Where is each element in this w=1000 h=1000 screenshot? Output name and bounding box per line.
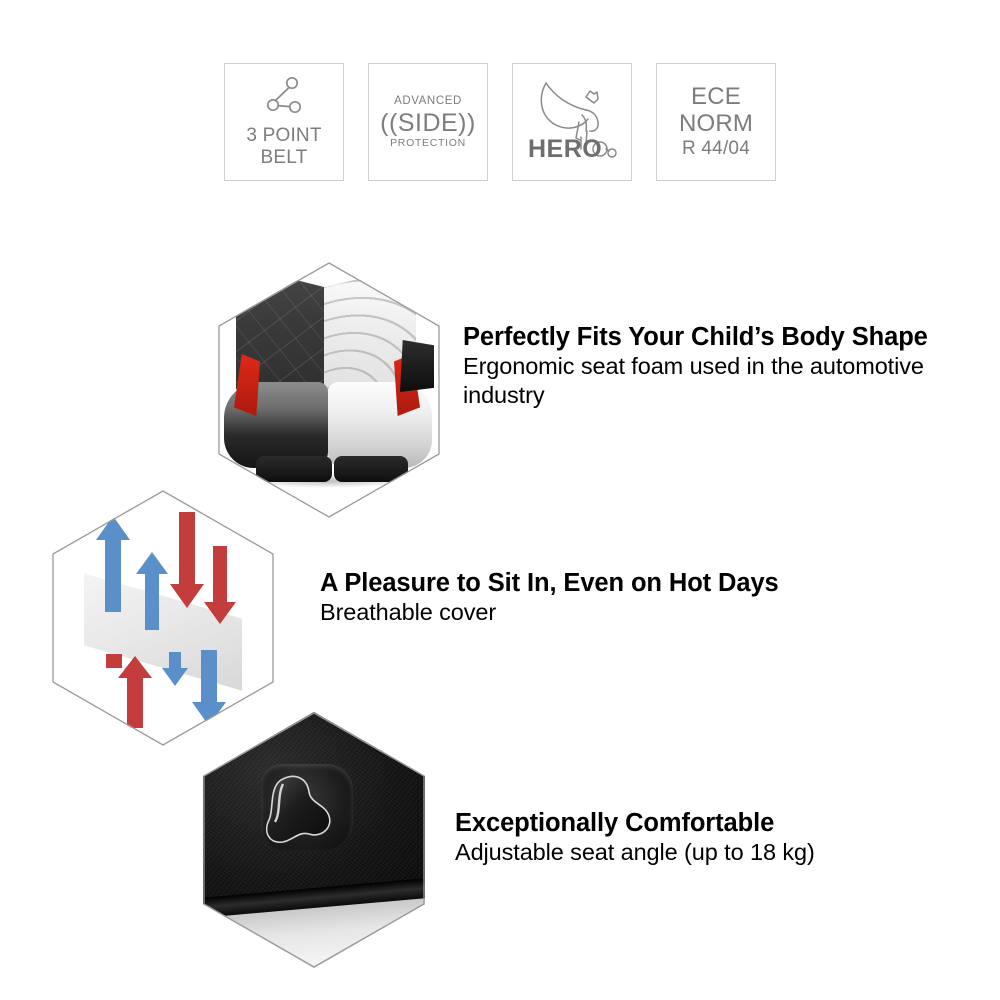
badge-three-point-belt-text: 3 POINT BELT <box>246 125 321 168</box>
arrow-warm-stub <box>106 654 122 668</box>
badge-side-protection-text: ADVANCED ((SIDE)) PROTECTION <box>380 95 476 150</box>
seat-armrest-right <box>400 340 434 392</box>
feature-image-recline-knob <box>203 712 425 968</box>
arrow-cool-up-small <box>136 552 168 630</box>
recline-knob[interactable] <box>255 770 341 856</box>
badge-ece-norm-text: ECE NORM R 44/04 <box>679 84 753 159</box>
badge-ece-norm[interactable]: ECE NORM R 44/04 <box>656 63 776 181</box>
feature-subtitle: Ergonomic seat foam used in the automoti… <box>463 352 933 411</box>
feature-subtitle: Breathable cover <box>320 598 900 627</box>
arrow-cool-down-small <box>162 652 188 686</box>
feature-text-breathable: A Pleasure to Sit In, Even on Hot Days B… <box>320 568 900 627</box>
badge-ece-line-1: ECE <box>679 84 753 111</box>
arrow-cool-down-bottom <box>192 650 226 726</box>
badge-side-top: ADVANCED <box>380 95 476 108</box>
feature-image-airflow <box>52 490 274 746</box>
feature-title: Perfectly Fits Your Child’s Body Shape <box>463 322 933 352</box>
feature-subtitle: Adjustable seat angle (up to 18 kg) <box>455 838 925 867</box>
badge-ece-line-2: NORM <box>679 111 753 138</box>
feature-text-perfect-fit: Perfectly Fits Your Child’s Body Shape E… <box>463 322 933 411</box>
badge-ece-line-3: R 44/04 <box>679 138 753 159</box>
badge-side-protection[interactable]: ADVANCED ((SIDE)) PROTECTION <box>368 63 488 181</box>
badge-side-bottom: PROTECTION <box>380 138 476 150</box>
badge-hero-word: HERO <box>528 135 602 164</box>
badge-line-1: 3 POINT <box>246 125 321 146</box>
seat-shadow <box>240 474 416 488</box>
harness-icon <box>262 76 306 121</box>
feature-title: Exceptionally Comfortable <box>455 808 925 838</box>
feature-text-comfort: Exceptionally Comfortable Adjustable sea… <box>455 808 925 867</box>
feature-title: A Pleasure to Sit In, Even on Hot Days <box>320 568 900 598</box>
arrow-warm-up-bottom <box>118 656 152 728</box>
badge-hero[interactable]: HERO <box>512 63 632 181</box>
feature-image-car-seat <box>218 262 440 518</box>
certification-badge-row: 3 POINT BELT ADVANCED ((SIDE)) PROTECTIO… <box>0 63 1000 185</box>
arrow-warm-down-large <box>170 512 204 608</box>
badge-line-2: BELT <box>246 147 321 168</box>
arrow-cool-up-large <box>96 516 130 612</box>
badge-three-point-belt[interactable]: 3 POINT BELT <box>224 63 344 181</box>
badge-side-middle: ((SIDE)) <box>380 109 476 137</box>
arrow-warm-down-small <box>204 546 236 624</box>
